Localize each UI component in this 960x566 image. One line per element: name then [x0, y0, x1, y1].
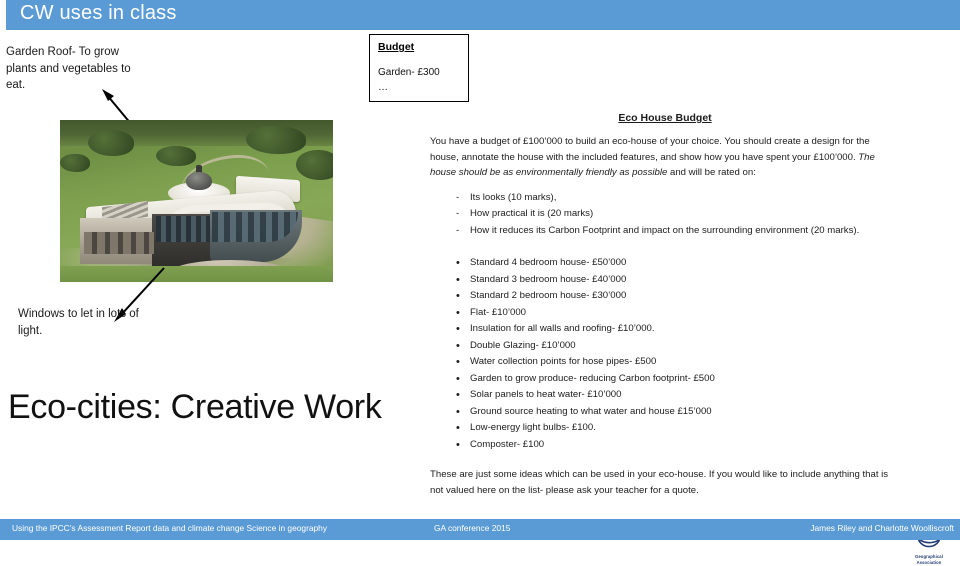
list-item: Solar panels to heat water- £10’000: [470, 387, 900, 404]
list-item: Composter- £100: [470, 437, 900, 454]
eco-house-photo: [60, 120, 333, 282]
worksheet-outro: These are just some ideas which can be u…: [430, 467, 900, 499]
logo-name-line-2: Association: [905, 560, 953, 565]
list-item: Ground source heating to what water and …: [470, 404, 900, 421]
budget-box: Budget Garden- £300 …: [369, 34, 469, 102]
worksheet-criteria-list: Its looks (10 marks), How practical it i…: [430, 190, 900, 240]
list-item: Insulation for all walls and roofing- £1…: [470, 321, 900, 338]
budget-box-line-1: Garden- £300: [378, 65, 460, 80]
list-item: Garden to grow produce- reducing Carbon …: [470, 371, 900, 388]
annotation-windows: Windows to let in lots of light.: [18, 306, 148, 339]
slide-content-area: Garden Roof- To grow plants and vegetabl…: [0, 30, 960, 510]
list-item: Standard 3 bedroom house- £40’000: [470, 272, 900, 289]
list-item: Low-energy light bulbs- £100.: [470, 420, 900, 437]
footer-center-text: GA conference 2015: [434, 523, 510, 533]
worksheet-price-list: Standard 4 bedroom house- £50’000 Standa…: [430, 255, 900, 453]
worksheet-heading: Eco House Budget: [430, 112, 900, 124]
list-item: Water collection points for hose pipes- …: [470, 354, 900, 371]
footer-left-text: Using the IPCC’s Assessment Report data …: [12, 523, 327, 533]
list-item: Standard 4 bedroom house- £50’000: [470, 255, 900, 272]
footer-right-text: James Riley and Charlotte Woolliscroft: [810, 523, 954, 533]
list-item: Flat- £10’000: [470, 305, 900, 322]
logo-name-line-1: Geographical: [905, 554, 953, 559]
slide-footer-bar: Using the IPCC’s Assessment Report data …: [0, 519, 960, 540]
slide-header-title: CW uses in class: [20, 2, 177, 25]
budget-box-line-2: …: [378, 80, 460, 95]
budget-box-title: Budget: [378, 41, 460, 53]
slide-header-bar: CW uses in class: [0, 0, 960, 30]
worksheet-intro: You have a budget of £100’000 to build a…: [430, 134, 900, 181]
list-item: Standard 2 bedroom house- £30’000: [470, 288, 900, 305]
list-item: How practical it is (20 marks): [470, 206, 900, 223]
annotation-garden-roof: Garden Roof- To grow plants and vegetabl…: [6, 44, 146, 94]
worksheet-intro-part1: You have a budget of £100’000 to build a…: [430, 136, 870, 163]
list-item: Its looks (10 marks),: [470, 190, 900, 207]
page-title: Eco-cities: Creative Work: [8, 388, 382, 427]
eco-house-budget-worksheet: Eco House Budget You have a budget of £1…: [430, 112, 900, 499]
list-item: Double Glazing- £10’000: [470, 338, 900, 355]
worksheet-intro-part2: and will be rated on:: [667, 167, 756, 178]
list-item: How it reduces its Carbon Footprint and …: [470, 223, 900, 240]
